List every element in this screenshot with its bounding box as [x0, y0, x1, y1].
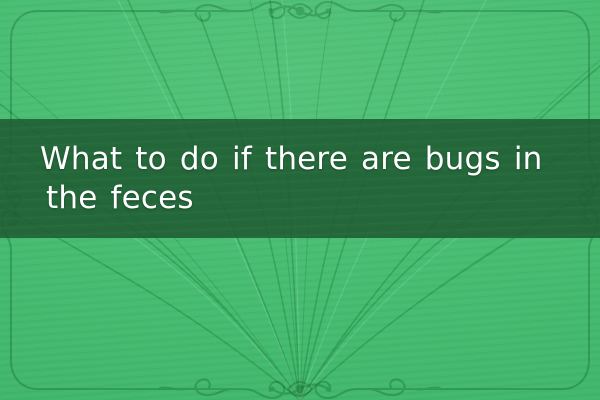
- page-title: What to do if there are bugs in the fece…: [0, 140, 600, 218]
- title-container: What to do if there are bugs in the fece…: [0, 119, 600, 238]
- title-card: What to do if there are bugs in the fece…: [0, 0, 600, 400]
